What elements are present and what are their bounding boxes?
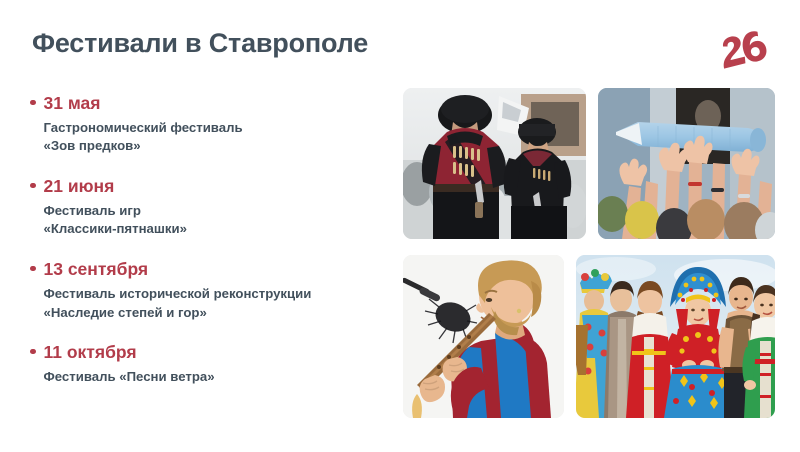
logo-26-icon [716, 30, 772, 70]
list-item: 13 сентября Фестиваль исторической рекон… [30, 258, 390, 322]
festival-name-text: Гастрономический фестиваль «Зов предков» [30, 119, 390, 156]
bullet-icon [30, 183, 36, 189]
photo-flute-player [403, 255, 564, 418]
festival-list: 31 мая Гастрономический фестиваль «Зов п… [30, 92, 390, 387]
bullet-icon [30, 349, 36, 355]
bullet-icon [30, 266, 36, 272]
festival-date-text: 31 мая [44, 92, 101, 116]
bullet-icon [30, 100, 36, 106]
festival-date-text: 21 июня [44, 175, 115, 199]
photo-folk-ensemble [576, 255, 775, 418]
page-title: Фестивали в Ставрополе [32, 28, 368, 59]
festival-date-row: 13 сентября [30, 258, 390, 282]
list-item: 21 июня Фестиваль игр «Классики-пятнашки… [30, 175, 390, 239]
photo-children-rocket [598, 88, 775, 239]
festival-date-text: 13 сентября [44, 258, 149, 282]
festival-date-row: 11 октября [30, 341, 390, 365]
festival-name-text: Фестиваль «Песни ветра» [30, 368, 390, 387]
festival-date-row: 21 июня [30, 175, 390, 199]
list-item: 31 мая Гастрономический фестиваль «Зов п… [30, 92, 390, 156]
festival-name-text: Фестиваль исторической реконструкции «На… [30, 285, 390, 322]
festival-date-row: 31 мая [30, 92, 390, 116]
festival-date-text: 11 октября [44, 341, 137, 365]
photo-cossack-costumes [403, 88, 586, 239]
slide-root: Фестивали в Ставрополе 31 мая Гастрономи… [0, 0, 800, 452]
photo-grid [403, 88, 775, 418]
list-item: 11 октября Фестиваль «Песни ветра» [30, 341, 390, 386]
festival-name-text: Фестиваль игр «Классики-пятнашки» [30, 202, 390, 239]
